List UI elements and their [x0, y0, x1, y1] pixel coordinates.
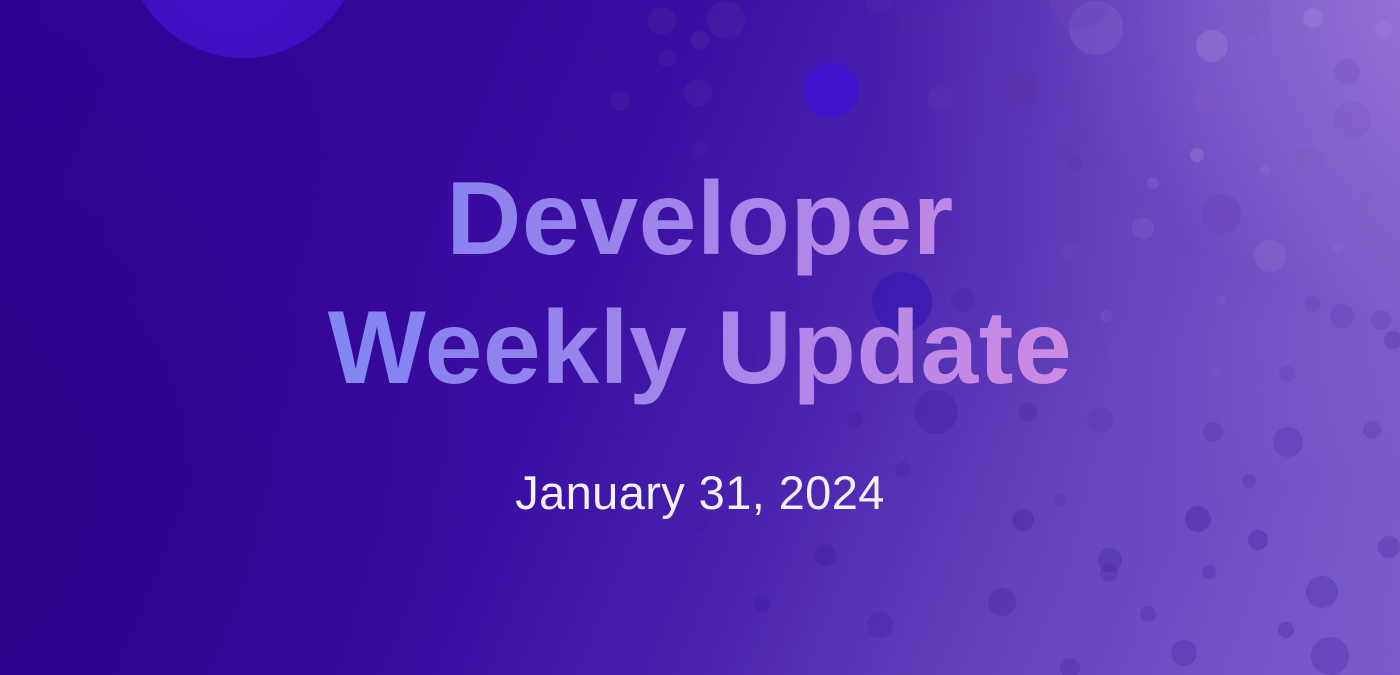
slide-canvas: Developer Weekly Update January 31, 2024: [0, 0, 1400, 675]
slide-date: January 31, 2024: [515, 465, 885, 520]
title-line-2: Weekly Update: [328, 284, 1072, 413]
page-title: Developer Weekly Update: [328, 155, 1072, 413]
slide-content: Developer Weekly Update January 31, 2024: [0, 0, 1400, 675]
title-line-1: Developer: [328, 155, 1072, 284]
